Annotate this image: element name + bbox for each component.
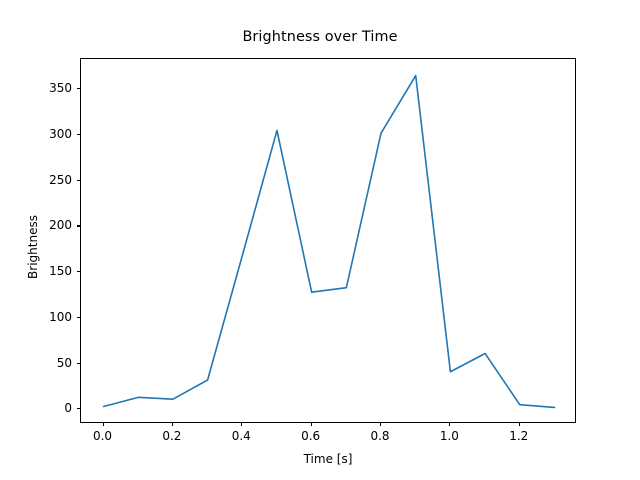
y-tick-label: 250 [49, 173, 72, 187]
brightness-line-series [104, 76, 555, 408]
x-tick-label: 1.2 [509, 429, 528, 443]
y-tick-label: 200 [49, 218, 72, 232]
y-tick-label: 50 [57, 356, 72, 370]
x-tick-label: 0.6 [301, 429, 320, 443]
x-tick-label: 0.0 [93, 429, 112, 443]
x-tick-label: 0.4 [232, 429, 251, 443]
y-tick-label: 100 [49, 310, 72, 324]
x-tick-label: 0.2 [162, 429, 181, 443]
chart-title: Brightness over Time [0, 29, 640, 45]
y-tick-label: 300 [49, 127, 72, 141]
y-tick-label: 0 [64, 401, 72, 415]
x-axis-label: Time [s] [80, 452, 576, 466]
plot-area [80, 58, 576, 423]
figure-canvas: Brightness over Time 0501001502002503003… [0, 0, 640, 480]
x-tick-label: 1.0 [440, 429, 459, 443]
y-tick-label: 350 [49, 81, 72, 95]
y-axis-label: Brightness [26, 187, 40, 307]
y-tick-label: 150 [49, 264, 72, 278]
plot-svg [81, 59, 577, 424]
x-tick-label: 0.8 [370, 429, 389, 443]
